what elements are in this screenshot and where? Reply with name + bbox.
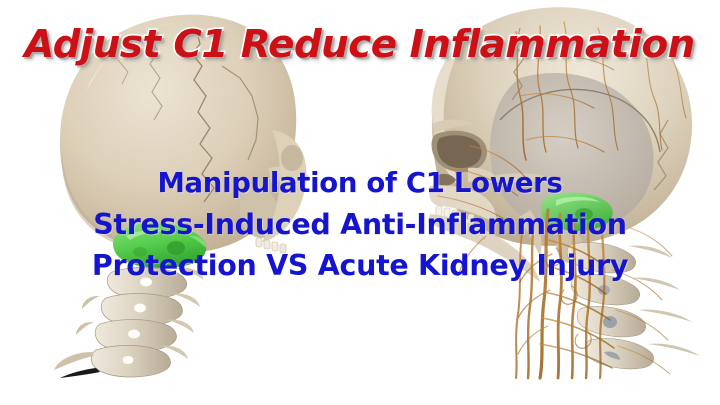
- subtitle-block: Manipulation of C1 Lowers Stress-Induced…: [0, 163, 720, 286]
- subtitle-line-3: Protection VS Acute Kidney Injury: [0, 245, 720, 286]
- slide-canvas: Adjust C1 Reduce Inflammation Manipulati…: [0, 0, 720, 405]
- headline-text: Adjust C1 Reduce Inflammation: [25, 22, 695, 66]
- subtitle-line-1: Manipulation of C1 Lowers: [0, 163, 720, 204]
- headline-banner: Adjust C1 Reduce Inflammation: [0, 22, 720, 66]
- subtitle-line-2: Stress-Induced Anti-Inflammation: [0, 204, 720, 245]
